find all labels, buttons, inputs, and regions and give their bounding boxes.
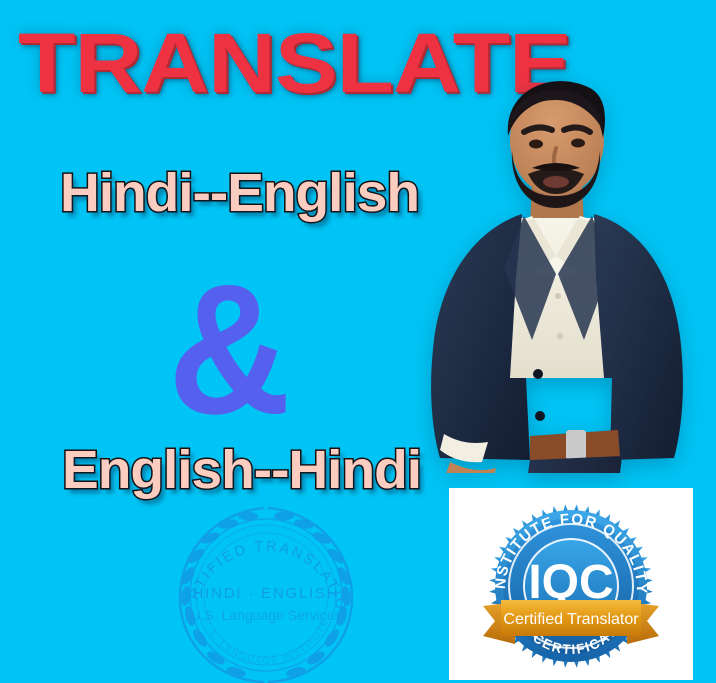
iqc-certification-card: INSTITUTE FOR QUALITY AND CERTIFICATION … (449, 488, 693, 680)
iqc-ribbon-text: Certified Translator (503, 611, 639, 628)
language-pair-english-to-hindi: English--Hindi (62, 443, 421, 497)
language-pair-hindi-to-english: Hindi--English (60, 166, 419, 220)
seal-language-line: HINDI · ENGLISH (192, 585, 339, 602)
ampersand-glyph: & (168, 258, 291, 443)
certified-translation-seal: CERTIFIED TRANSLATION HINDI · ENGLISH U.… (168, 498, 364, 683)
seal-provider-line: U.S. Language Services (191, 607, 342, 623)
translator-portrait-photo (404, 78, 716, 473)
translate-service-poster: TRANSLATE Hindi--English & English--Hind… (0, 0, 716, 683)
iqc-badge: INSTITUTE FOR QUALITY AND CERTIFICATION … (473, 494, 669, 674)
